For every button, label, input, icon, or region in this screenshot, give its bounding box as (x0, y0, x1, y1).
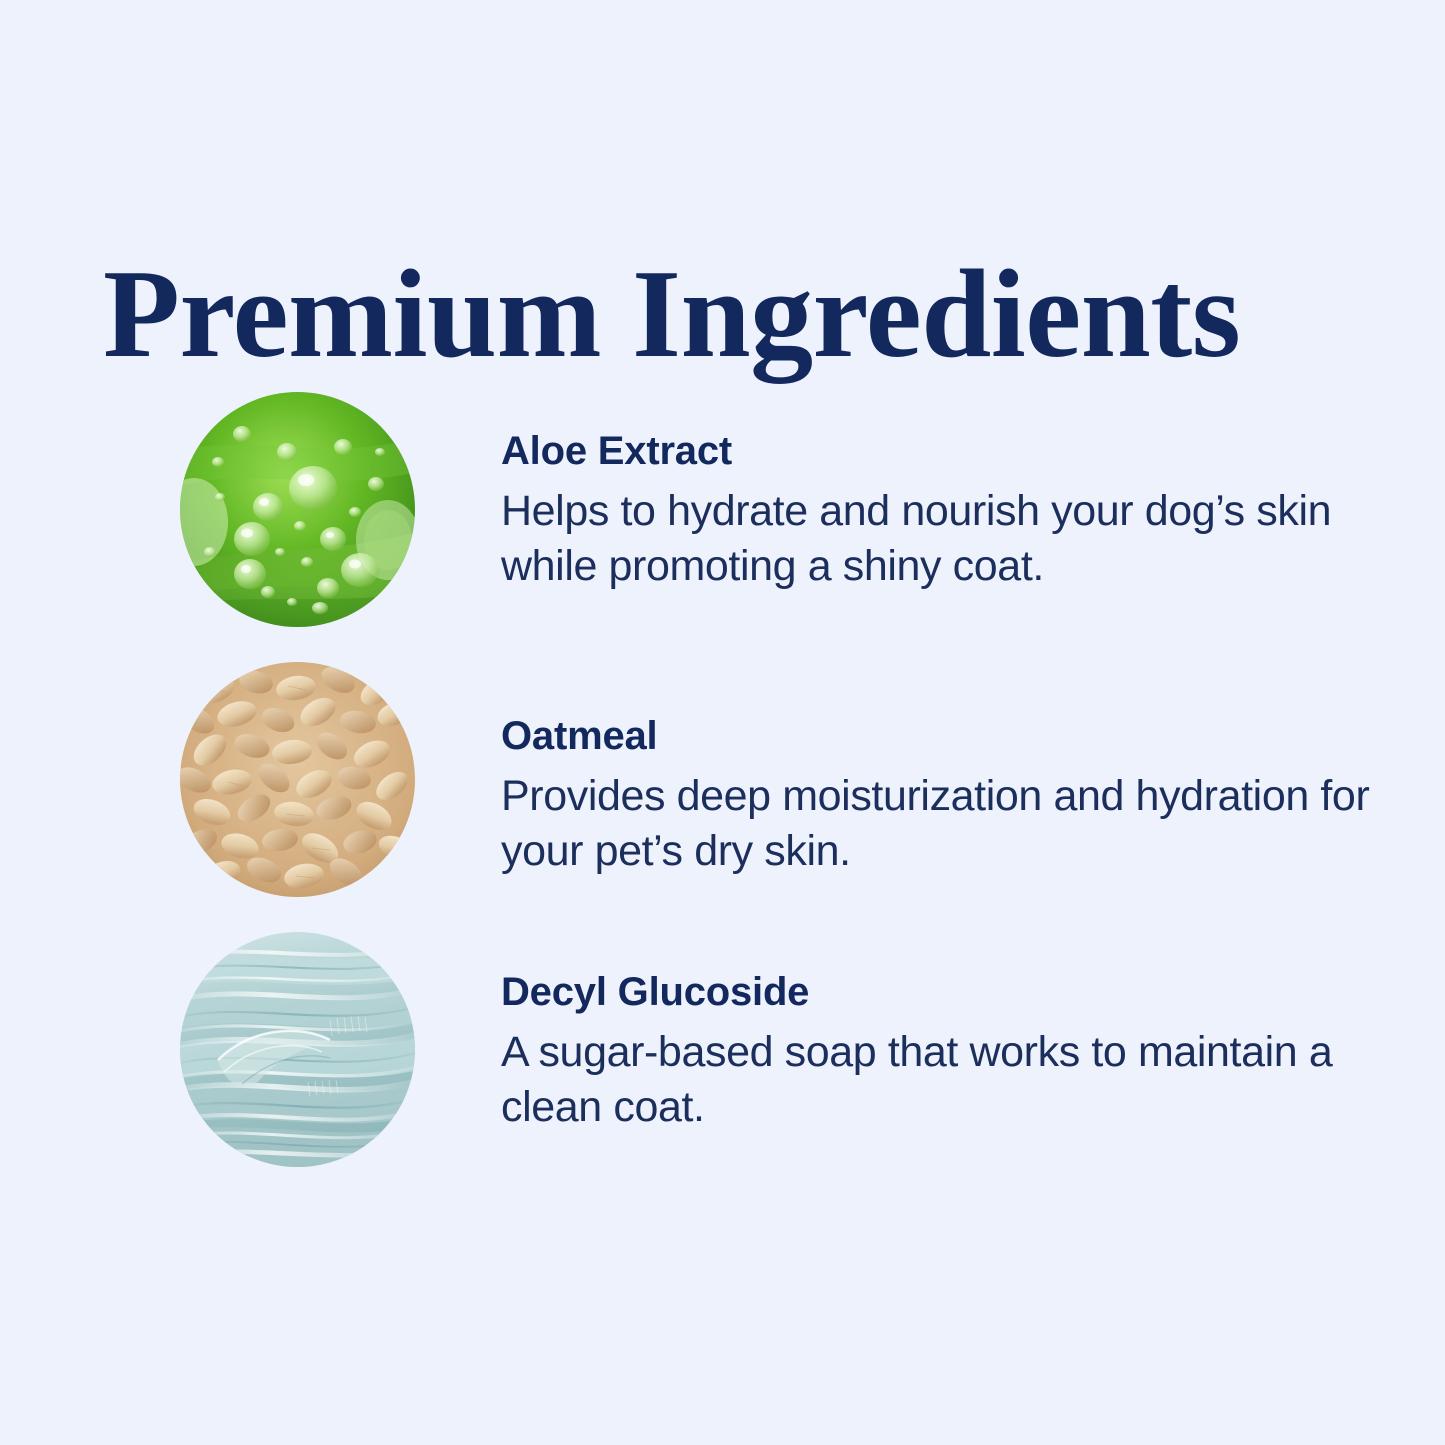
ingredient-item-decyl-glucoside: Decyl Glucoside A sugar-based soap that … (0, 932, 1445, 1167)
ingredient-item-aloe-extract: Aloe Extract Helps to hydrate and nouris… (0, 392, 1445, 627)
ingredient-name: Aloe Extract (501, 429, 1385, 474)
ingredient-name: Oatmeal (501, 714, 1385, 759)
ingredient-description: A sugar-based soap that works to maintai… (501, 1025, 1381, 1135)
rolled-oats-photo (180, 662, 415, 897)
ingredient-list: Aloe Extract Helps to hydrate and nouris… (0, 392, 1445, 1202)
ingredient-description: Helps to hydrate and nourish your dog’s … (501, 484, 1381, 594)
page-title: Premium Ingredients (103, 252, 1343, 378)
ingredients-infographic: Premium Ingredients (0, 0, 1445, 1445)
ingredient-text-decyl-glucoside: Decyl Glucoside A sugar-based soap that … (415, 964, 1445, 1135)
teal-gel-texture-photo (180, 932, 415, 1167)
aloe-leaf-water-droplets-photo (180, 392, 415, 627)
ingredient-text-oatmeal: Oatmeal Provides deep moisturization and… (415, 680, 1445, 879)
ingredient-description: Provides deep moisturization and hydrati… (501, 769, 1381, 879)
ingredient-item-oatmeal: Oatmeal Provides deep moisturization and… (0, 662, 1445, 897)
ingredient-text-aloe-extract: Aloe Extract Helps to hydrate and nouris… (415, 425, 1445, 594)
ingredient-name: Decyl Glucoside (501, 970, 1385, 1015)
